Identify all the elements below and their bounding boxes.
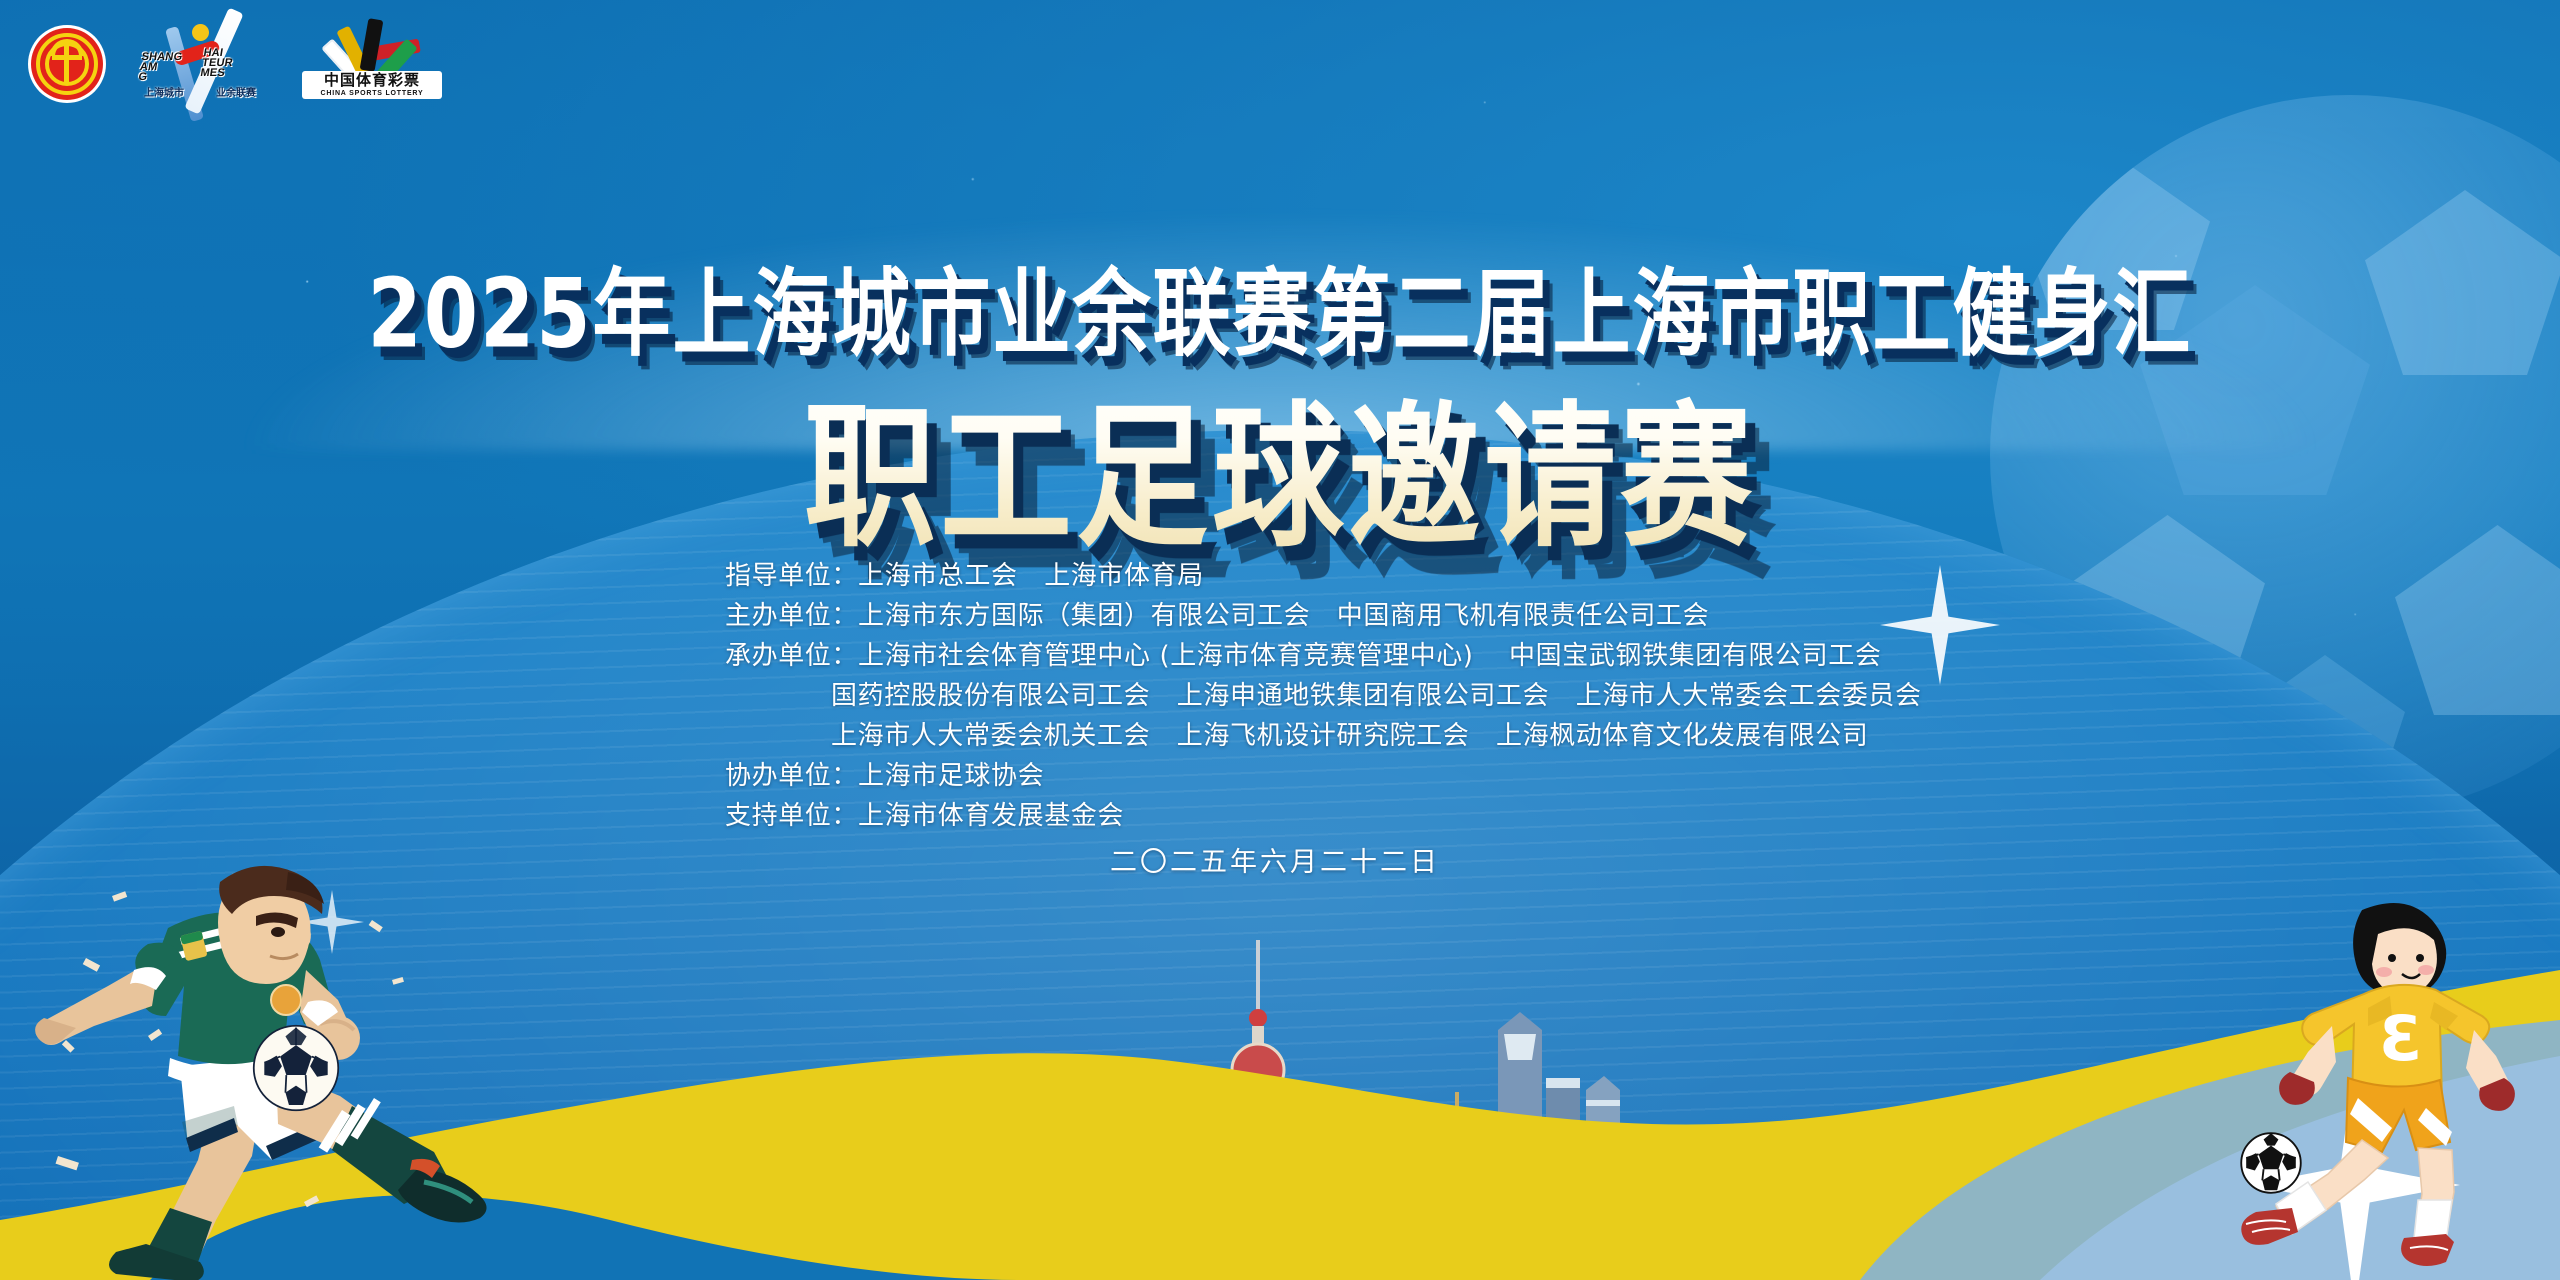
- credit-line: 支持单位：上海市体育发展基金会: [725, 796, 2225, 836]
- credit-line: 协办单位：上海市足球协会: [725, 756, 2225, 796]
- credit-line: 国药控股股份有限公司工会 上海申通地铁集团有限公司工会 上海市人大常委会工会委员…: [725, 676, 2225, 716]
- credit-line: 主办单位：上海市东方国际（集团）有限公司工会 中国商用飞机有限责任公司工会: [725, 596, 2225, 636]
- sag-cn-right: 业余联赛: [216, 84, 256, 99]
- event-main-title: 职工足球邀请赛: [0, 352, 2560, 577]
- credit-line: 承办单位：上海市社会体育管理中心 (上海市体育竞赛管理中心) 中国宝武钢铁集团有…: [725, 636, 2225, 676]
- poster-canvas: SHANG AM G HAI TEUR MES 上海城市 业余联赛 中国体育彩票…: [0, 0, 2560, 1280]
- sponsor-logo-row: SHANG AM G HAI TEUR MES 上海城市 业余联赛 中国体育彩票…: [28, 18, 442, 110]
- soccer-ball-left: [252, 1024, 340, 1112]
- event-date: 二〇二五年六月二十二日: [725, 840, 1825, 879]
- china-sports-lottery-icon: 中国体育彩票 CHINA SPORTS LOTTERY: [302, 19, 442, 109]
- acftu-emblem-icon: [28, 25, 106, 103]
- shanghai-amateur-games-icon: SHANG AM G HAI TEUR MES 上海城市 业余联赛: [140, 18, 268, 110]
- football-player-yellow-kit: 3: [2212, 882, 2542, 1272]
- organizer-credits: 指导单位：上海市总工会 上海市体育局 主办单位：上海市东方国际（集团）有限公司工…: [725, 556, 2225, 836]
- soccer-ball-right: [2240, 1132, 2302, 1194]
- jersey-number: 3: [2378, 1002, 2421, 1075]
- sag-wordmark-right: HAI TEUR MES: [200, 48, 275, 78]
- sag-cn-left: 上海城市: [144, 84, 184, 99]
- credit-line: 指导单位：上海市总工会 上海市体育局: [725, 556, 2225, 596]
- csl-en-label: CHINA SPORTS LOTTERY: [302, 89, 442, 98]
- credit-line: 上海市人大常委会机关工会 上海飞机设计研究院工会 上海枫动体育文化发展有限公司: [725, 716, 2225, 756]
- csl-cn-label: 中国体育彩票: [302, 73, 442, 89]
